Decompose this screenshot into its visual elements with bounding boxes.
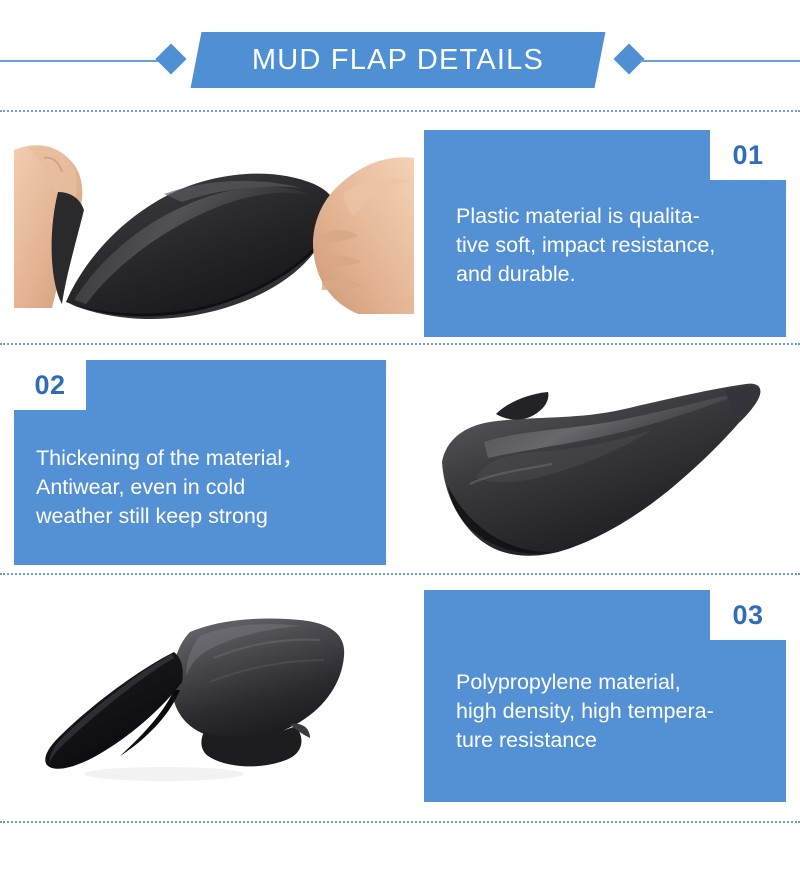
number-badge-01: 01	[710, 130, 786, 180]
divider-4	[0, 821, 800, 823]
header-rule-left	[0, 60, 160, 62]
number-badge-03: 03	[710, 590, 786, 640]
divider-1	[0, 110, 800, 112]
divider-3	[0, 573, 800, 575]
diamond-accent-right-icon	[613, 43, 644, 74]
page-header: MUD FLAP DETAILS	[0, 0, 800, 97]
product-photo-hands-bending-flap	[14, 132, 414, 337]
product-detail-infographic: MUD FLAP DETAILS	[0, 0, 800, 896]
number-badge-02: 02	[14, 360, 86, 410]
page-title: MUD FLAP DETAILS	[252, 44, 544, 77]
info-panel-01: 01 Plastic material is qualita- tive sof…	[424, 130, 786, 337]
product-photo-flap-angled	[424, 366, 790, 562]
number-badge-label: 01	[732, 142, 763, 169]
product-photo-flap-curved	[14, 598, 406, 798]
info-panel-03-text: Polypropylene material, high density, hi…	[456, 668, 776, 754]
diamond-accent-left-icon	[155, 43, 186, 74]
info-panel-01-text: Plastic material is qualita- tive soft, …	[456, 202, 772, 288]
info-panel-03: 03 Polypropylene material, high density,…	[424, 590, 786, 802]
section-01: 01 Plastic material is qualita- tive sof…	[0, 130, 800, 340]
number-badge-label: 03	[732, 602, 763, 629]
section-02: 02 Thickening of the material， Antiwear,…	[0, 360, 800, 570]
divider-2	[0, 343, 800, 345]
header-banner: MUD FLAP DETAILS	[191, 32, 606, 88]
header-rule-right	[640, 60, 800, 62]
section-03: 03 Polypropylene material, high density,…	[0, 590, 800, 810]
info-panel-02-text: Thickening of the material， Antiwear, ev…	[36, 444, 376, 530]
info-panel-02: 02 Thickening of the material， Antiwear,…	[14, 360, 386, 565]
number-badge-label: 02	[34, 372, 65, 399]
